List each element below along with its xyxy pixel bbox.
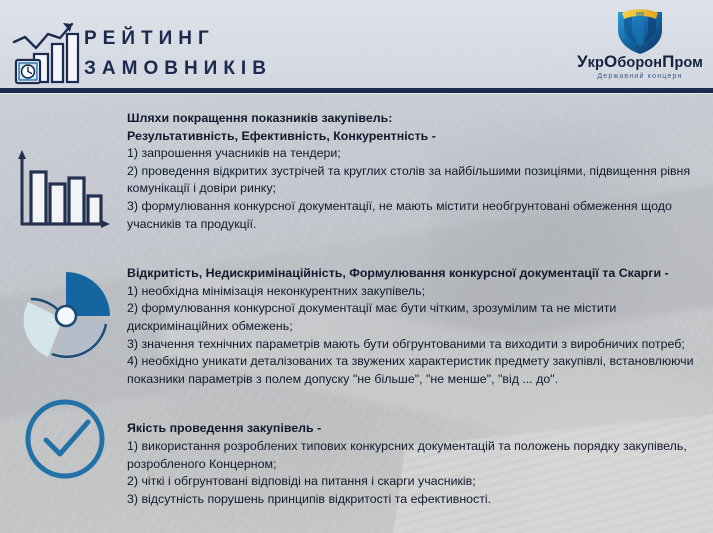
header-divider	[0, 88, 713, 93]
section-title: Результативність, Ефективність, Конкурен…	[127, 128, 705, 146]
page-title-line1: РЕЙТИНГ	[84, 24, 272, 54]
section-block: Результативність, Ефективність, Конкурен…	[127, 128, 705, 234]
page-title-line2: ЗАМОВНИКІВ	[84, 54, 272, 84]
section-line: 1) використання розроблених типових конк…	[127, 438, 705, 473]
logo-wordmark: УкрОборонПром	[570, 52, 710, 72]
section-line: 3) відсутність порушень принципів відкри…	[127, 491, 705, 509]
section-line: 4) необхідно уникати деталізованих та зв…	[127, 353, 705, 388]
block-spacer	[127, 247, 705, 265]
page-title: РЕЙТИНГ ЗАМОВНИКІВ	[84, 24, 272, 84]
section-block: Якість проведення закупівель - 1) викори…	[127, 420, 705, 508]
growth-chart-clock-icon	[8, 14, 92, 88]
block-spacer	[127, 402, 705, 420]
section-line: 2) чіткі і обгрунтовані відповіді на пит…	[127, 473, 705, 491]
section-block: Відкритість, Недискримінаційність, Форму…	[127, 265, 705, 388]
section-line: 2) формулювання конкурсної документації …	[127, 300, 705, 335]
section-line: 3) формулювання конкурсної документації,…	[127, 198, 705, 233]
bar-chart-icon	[14, 148, 114, 240]
logo-subtitle: Державний концерн	[570, 73, 710, 80]
section-title: Якість проведення закупівель -	[127, 420, 705, 438]
ukroboronprom-shield-emblem	[611, 6, 669, 54]
pie-chart-icon	[16, 266, 116, 366]
intro-heading: Шляхи покращення показників закупівель:	[127, 110, 705, 128]
section-line: 2) проведення відкритих зустрічей та кру…	[127, 163, 705, 198]
section-title: Відкритість, Недискримінаційність, Форму…	[127, 265, 705, 283]
content-body: Шляхи покращення показників закупівель: …	[127, 110, 705, 508]
slide-canvas: РЕЙТИНГ ЗАМОВНИКІВ Ук	[0, 0, 713, 533]
section-line: 1) необхідна мінімізація неконкурентних …	[127, 283, 705, 301]
section-line: 1) запрошення учасників на тендери;	[127, 145, 705, 163]
brand-logo: УкрОборонПром Державний концерн	[570, 6, 710, 88]
check-circle-icon	[22, 396, 108, 482]
section-line: 3) значення технічних параметрів мають б…	[127, 336, 705, 354]
